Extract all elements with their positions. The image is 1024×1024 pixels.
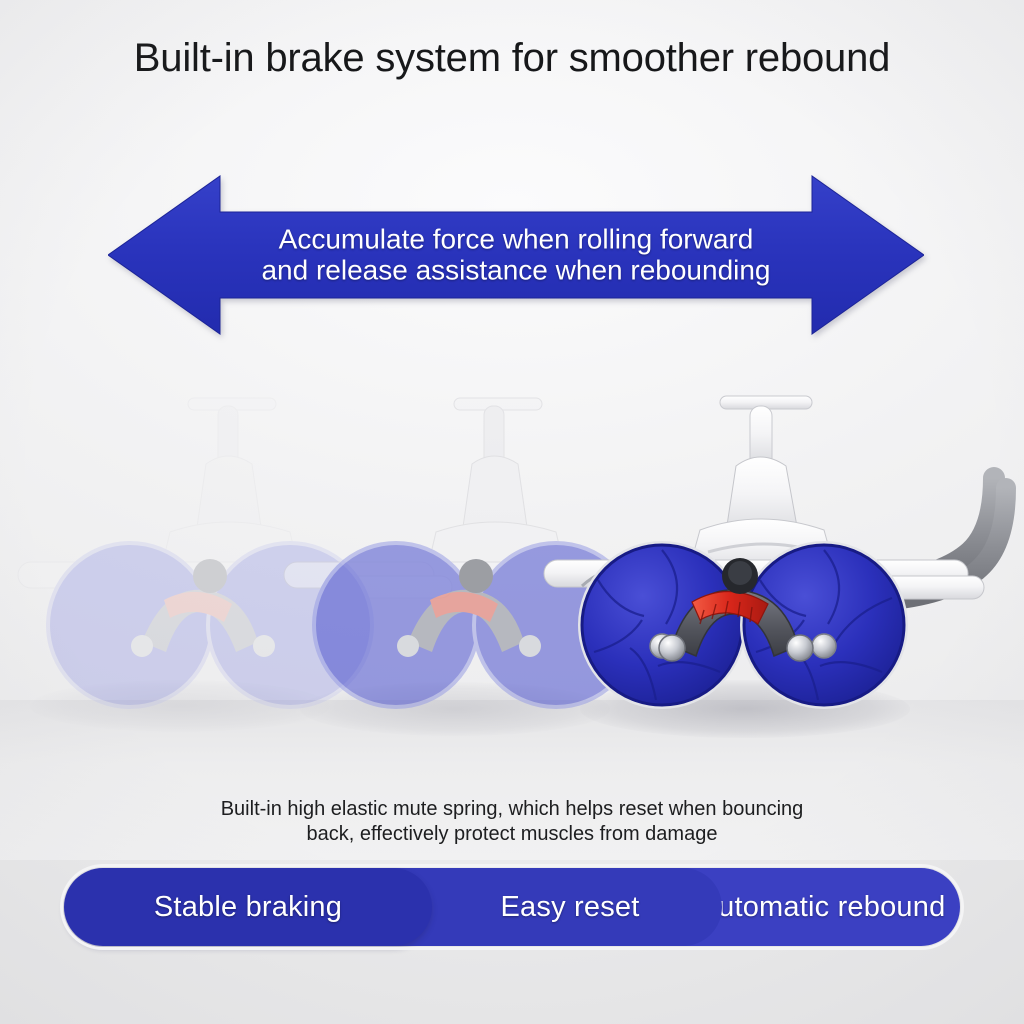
roller-stage-solid [524,380,994,760]
product-feature-poster: Built-in brake system for smoother rebou… [0,0,1024,1024]
feature-pill-stable-braking[interactable]: Stable braking [64,868,432,946]
page-title: Built-in brake system for smoother rebou… [0,36,1024,80]
arrow-banner: Accumulate force when rolling forward an… [108,172,924,338]
caption-line-1: Built-in high elastic mute spring, which… [132,797,892,822]
caption-line-2: back, effectively protect muscles from d… [132,822,892,847]
double-headed-arrow-icon [108,172,924,338]
product-illustration [0,380,1024,760]
feature-caption: Built-in high elastic mute spring, which… [132,797,892,847]
bolt-cap-left [659,635,685,661]
feature-pill-band: Automatic rebound Easy reset Stable brak… [64,868,960,946]
wheel-left [578,541,746,709]
bolt-cap-right [787,635,813,661]
